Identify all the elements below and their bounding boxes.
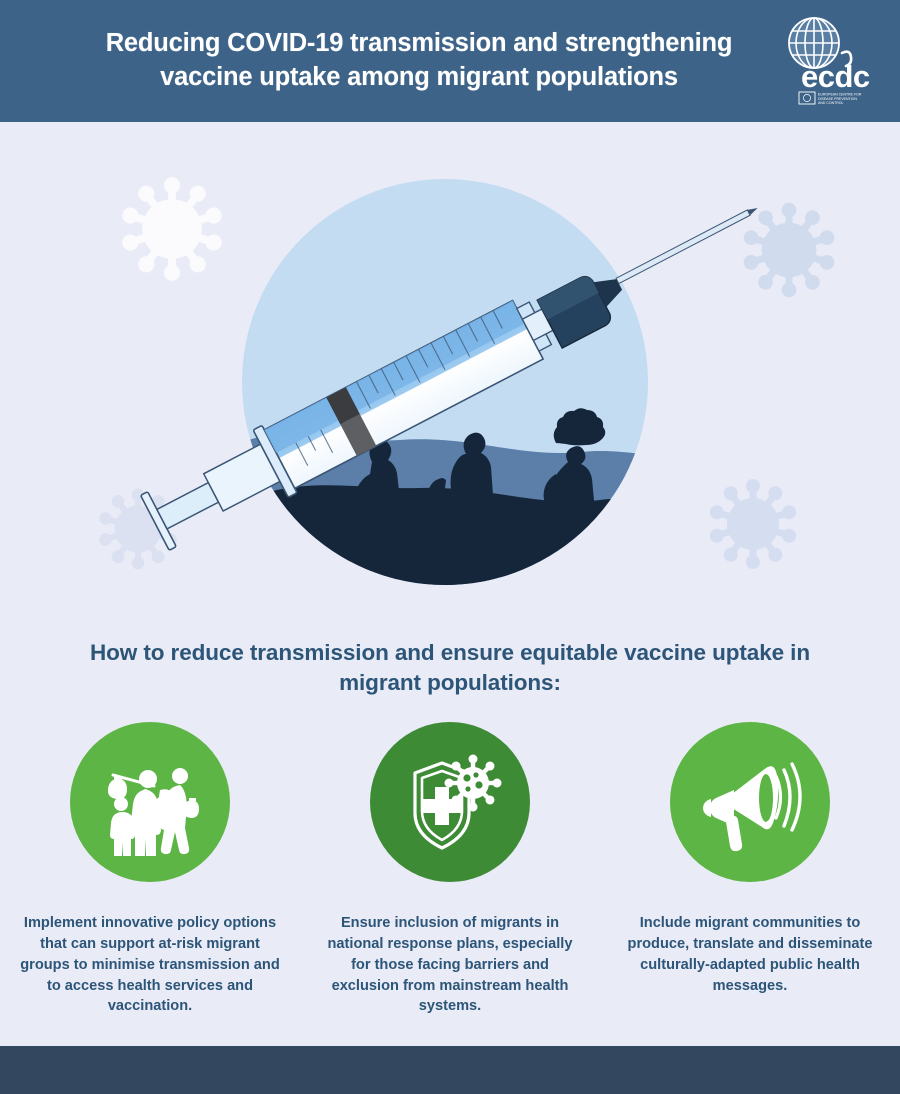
card-caption-1: Implement innovative policy options that… <box>0 913 300 1017</box>
section-subtitle: How to reduce transmission and ensure eq… <box>55 638 845 698</box>
logo-tagline-line-3: AND CONTROL <box>818 101 844 105</box>
card-caption-3: Include migrant communities to produce, … <box>600 913 900 996</box>
icon-circle-3 <box>670 722 830 882</box>
card-caption-2: Ensure inclusion of migrants in national… <box>300 913 600 1017</box>
icon-circle-1 <box>70 722 230 882</box>
page-footer <box>0 1046 900 1094</box>
recommendation-card-1: Implement innovative policy options that… <box>0 722 300 1017</box>
recommendation-card-3: Include migrant communities to produce, … <box>600 722 900 996</box>
virus-icon-top-left <box>120 177 223 281</box>
shield-cross-virus-icon <box>395 747 505 857</box>
hero-illustration <box>0 122 900 632</box>
virus-icon-top-right <box>742 203 836 298</box>
icon-circle-2 <box>370 722 530 882</box>
virus-icon-bottom-right <box>708 479 798 569</box>
megaphone-icon <box>694 746 806 858</box>
page-title: Reducing COVID-19 transmission and stren… <box>26 27 772 94</box>
recommendation-cards: Implement innovative policy options that… <box>0 722 900 1022</box>
migrant-family-icon <box>96 748 204 856</box>
page-header: Reducing COVID-19 transmission and stren… <box>0 0 900 122</box>
ecdc-wordmark: ecdc <box>801 59 870 94</box>
ecdc-logo: ecdc EUROPEAN CENTRE FOR DISEASE PREVENT… <box>772 15 874 107</box>
recommendation-card-2: Ensure inclusion of migrants in national… <box>300 722 600 1017</box>
